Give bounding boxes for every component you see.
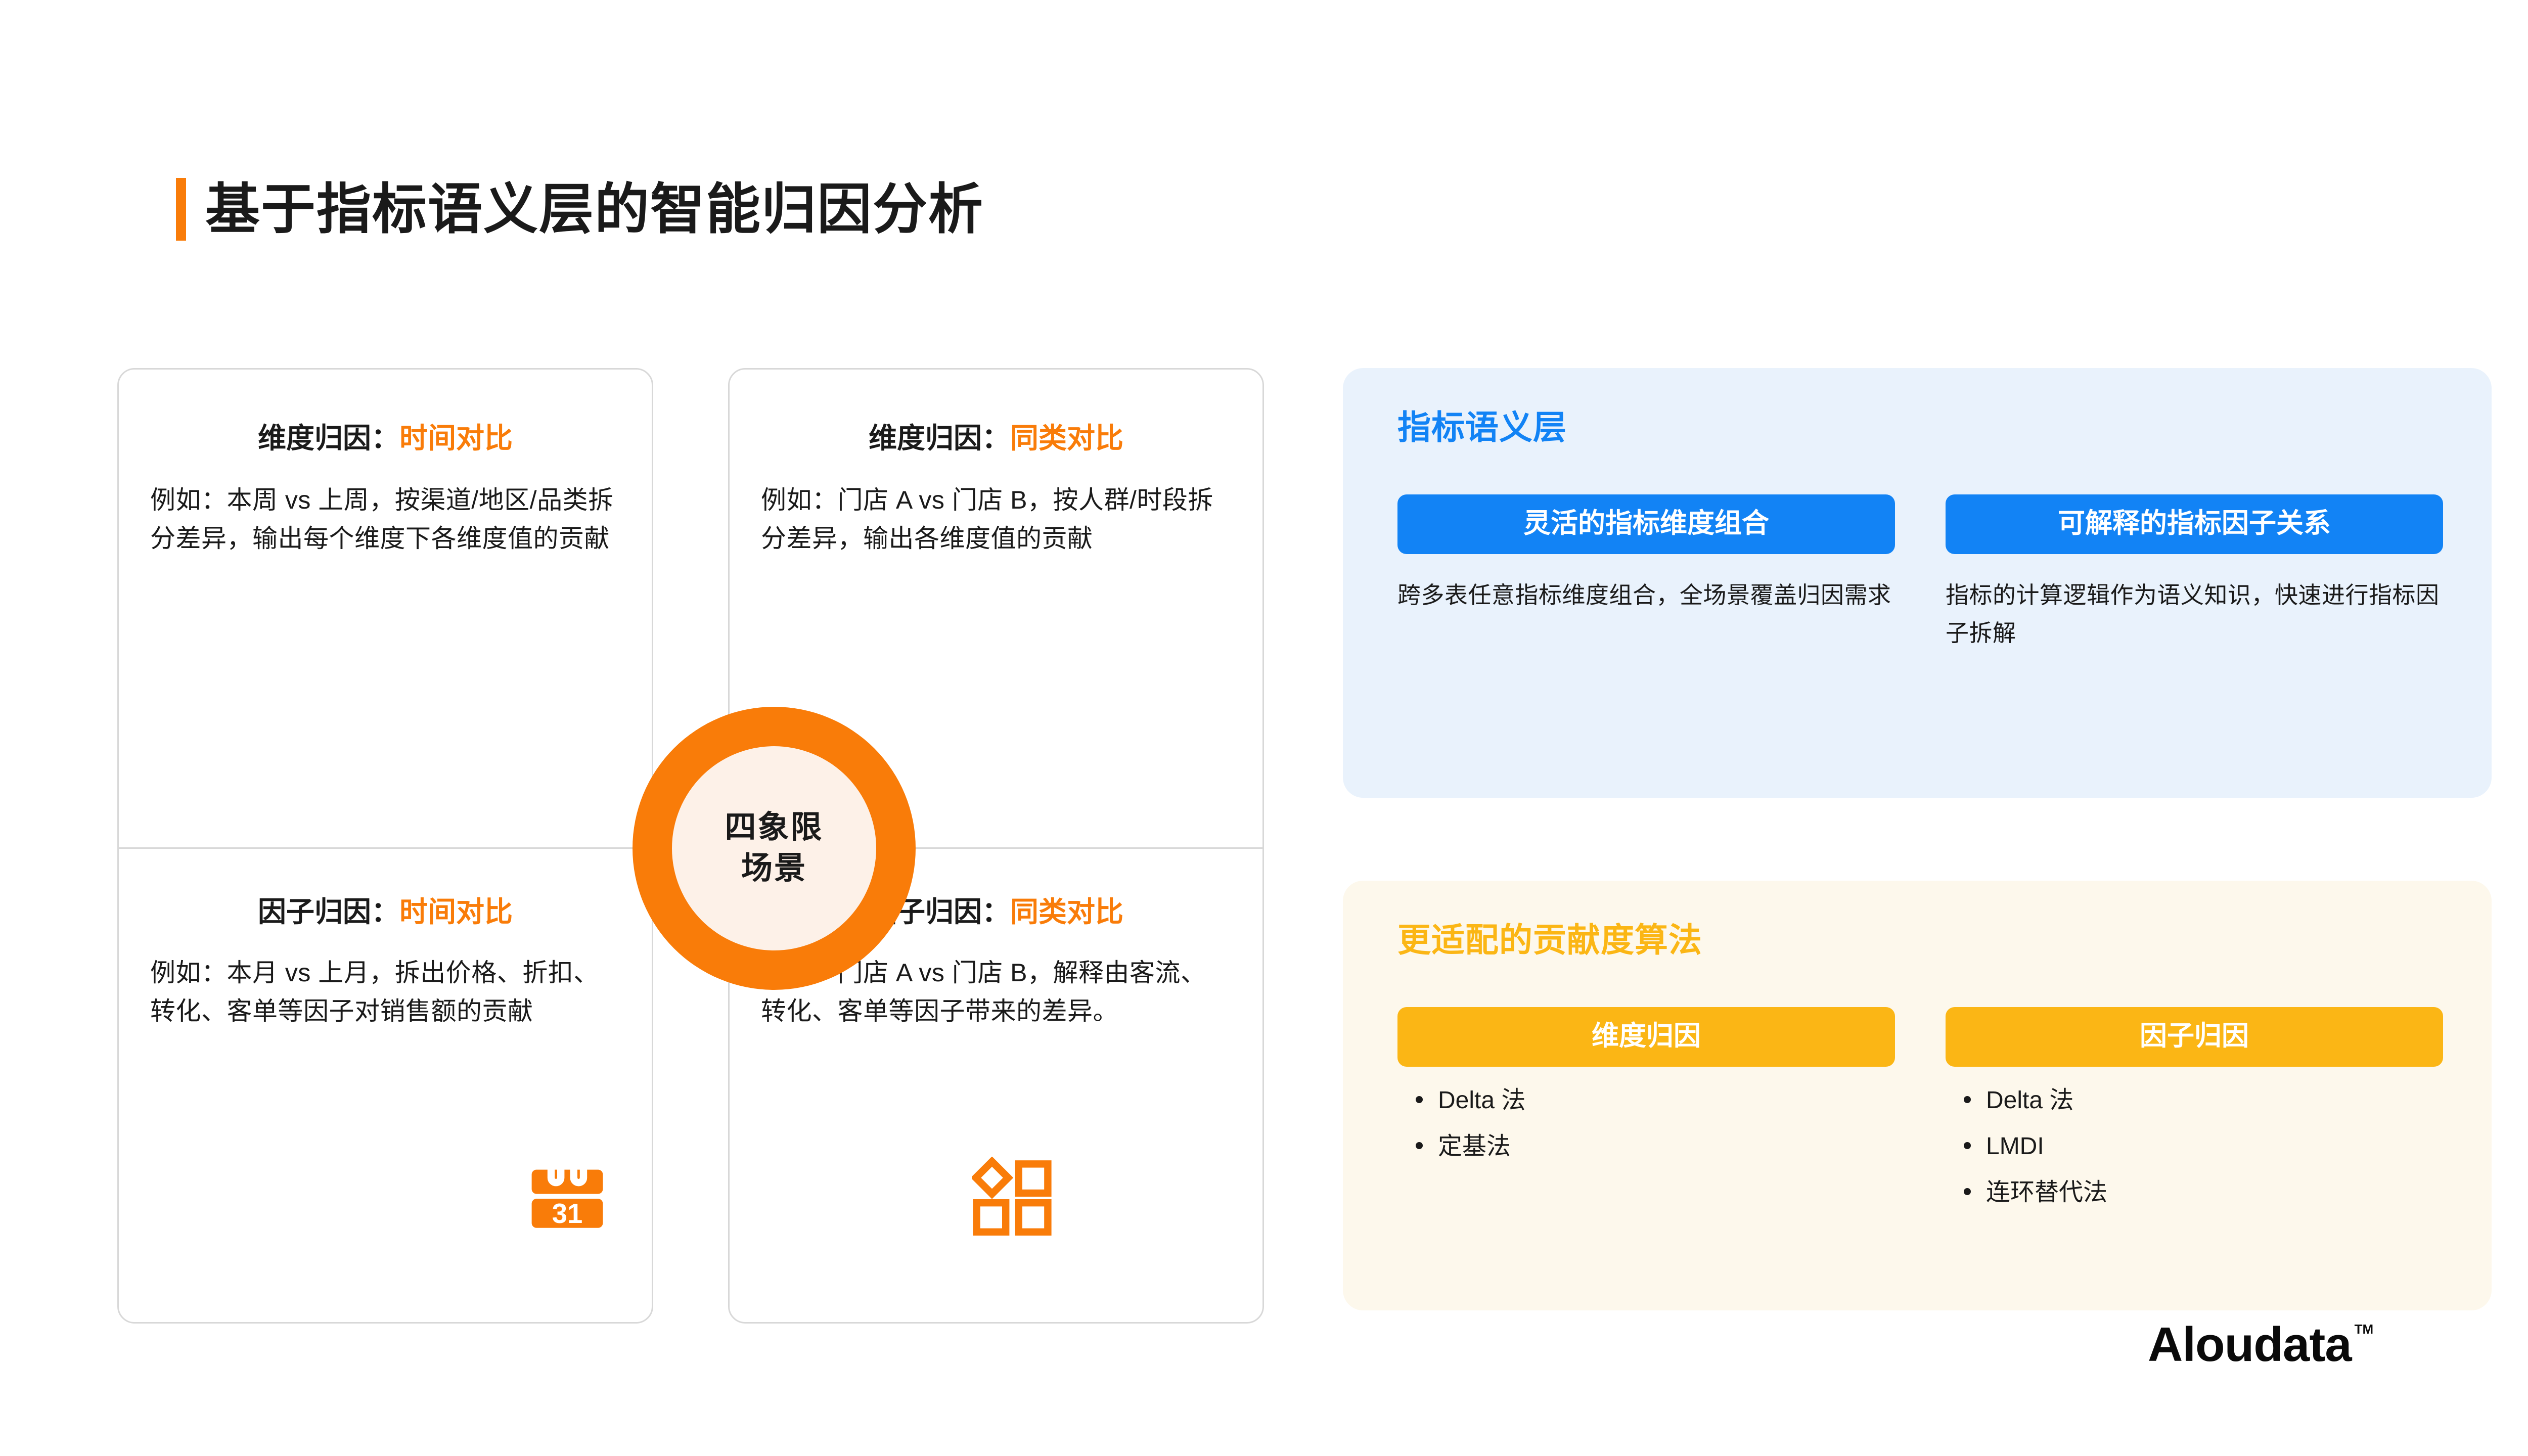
quadrant-heading-highlight: 同类对比 <box>1010 422 1123 454</box>
quadrant-body: 例如：本周 vs 上周，按渠道/地区/品类拆分差异，输出每个维度下各维度值的贡献 <box>150 452 620 558</box>
bullet-icon <box>1964 1142 1971 1149</box>
algorithm-column-dimension: 维度归因 Delta 法 定基法 <box>1397 1007 1895 1226</box>
algorithm-panel: 更适配的贡献度算法 维度归因 Delta 法 定基法 因子归因 Delta 法 … <box>1343 881 2492 1310</box>
quadrant-cell-dimension-time[interactable]: 维度归因：时间对比 例如：本周 vs 上周，按渠道/地区/品类拆分差异，输出每个… <box>119 370 652 847</box>
quadrant-cell-factor-time[interactable]: 因子归因：时间对比 例如：本月 vs 上月，拆出价格、折扣、转化、客单等因子对销… <box>119 847 652 1325</box>
quadrant-heading-prefix: 维度归因： <box>258 422 399 454</box>
quadrant-heading-highlight: 时间对比 <box>399 896 513 928</box>
center-ring-inner: 四象限 场景 <box>672 746 876 950</box>
quadrant-heading: 因子归因：时间对比 <box>150 847 620 926</box>
list-item-label: Delta 法 <box>1438 1088 1525 1114</box>
semantic-desc-flexible: 跨多表任意指标维度组合，全场景覆盖归因需求 <box>1397 576 1895 614</box>
page-title: 基于指标语义层的智能归因分析 <box>205 182 984 237</box>
logo-wordmark: Aloudata <box>2148 1321 2352 1369</box>
list-item-label: 连环替代法 <box>1986 1180 2107 1206</box>
quadrant-heading-highlight: 时间对比 <box>399 422 513 454</box>
page-header: 基于指标语义层的智能归因分析 <box>176 178 984 241</box>
semantic-pill-explainable[interactable]: 可解释的指标因子关系 <box>1946 494 2443 554</box>
semantic-column-explainable: 可解释的指标因子关系 指标的计算逻辑作为语义知识，快速进行指标因子拆解 <box>1946 494 2443 652</box>
algorithm-pill-factor[interactable]: 因子归因 <box>1946 1007 2443 1067</box>
algorithm-pill-dimension[interactable]: 维度归因 <box>1397 1007 1895 1067</box>
list-item: LMDI <box>1946 1134 2443 1160</box>
semantic-layer-title: 指标语义层 <box>1397 411 1567 444</box>
quadrant-heading: 维度归因：同类对比 <box>761 370 1231 452</box>
trademark-icon: TM <box>2355 1323 2374 1336</box>
quadrant-heading: 维度归因：时间对比 <box>150 370 620 452</box>
list-item-label: LMDI <box>1986 1134 2044 1160</box>
quadrant-heading-highlight: 同类对比 <box>1010 896 1123 928</box>
bullet-icon <box>1416 1142 1423 1149</box>
algorithm-list-dimension: Delta 法 定基法 <box>1397 1088 1895 1160</box>
semantic-layer-panel: 指标语义层 灵活的指标维度组合 跨多表任意指标维度组合，全场景覆盖归因需求 可解… <box>1343 368 2492 798</box>
center-ring: 四象限 场景 <box>633 707 916 990</box>
algorithm-list-factor: Delta 法 LMDI 连环替代法 <box>1946 1088 2443 1206</box>
semantic-desc-explainable: 指标的计算逻辑作为语义知识，快速进行指标因子拆解 <box>1946 576 2443 652</box>
algorithm-columns: 维度归因 Delta 法 定基法 因子归因 Delta 法 LMDI 连环替代法 <box>1397 1007 2443 1226</box>
center-label-line1: 四象限 <box>725 807 823 848</box>
algorithm-panel-title: 更适配的贡献度算法 <box>1397 923 1702 957</box>
list-item-label: Delta 法 <box>1986 1088 2073 1114</box>
svg-text:31: 31 <box>552 1198 583 1229</box>
algorithm-column-factor: 因子归因 Delta 法 LMDI 连环替代法 <box>1946 1007 2443 1226</box>
semantic-layer-columns: 灵活的指标维度组合 跨多表任意指标维度组合，全场景覆盖归因需求 可解释的指标因子… <box>1397 494 2443 652</box>
list-item: Delta 法 <box>1946 1088 2443 1114</box>
quadrant-diagram: 维度归因：时间对比 例如：本周 vs 上周，按渠道/地区/品类拆分差异，输出每个… <box>117 368 1264 1324</box>
list-item-label: 定基法 <box>1438 1134 1511 1160</box>
bullet-icon <box>1964 1096 1971 1103</box>
quadrant-heading-prefix: 维度归因： <box>869 422 1010 454</box>
center-label-line2: 场景 <box>725 848 823 889</box>
calendar-31-icon: 31 <box>527 1157 608 1238</box>
semantic-pill-flexible[interactable]: 灵活的指标维度组合 <box>1397 494 1895 554</box>
semantic-column-flexible: 灵活的指标维度组合 跨多表任意指标维度组合，全场景覆盖归因需求 <box>1397 494 1895 652</box>
list-item: 连环替代法 <box>1946 1180 2443 1206</box>
title-accent-bar <box>176 178 186 241</box>
list-item: Delta 法 <box>1397 1088 1895 1114</box>
quadrant-body: 例如：门店 A vs 门店 B，按人群/时段拆分差异，输出各维度值的贡献 <box>761 452 1231 558</box>
list-item: 定基法 <box>1397 1134 1895 1160</box>
grid-shapes-icon <box>972 1157 1053 1238</box>
center-label: 四象限 场景 <box>725 807 823 889</box>
bullet-icon <box>1416 1096 1423 1103</box>
quadrant-body: 例如：本月 vs 上月，拆出价格、折扣、转化、客单等因子对销售额的贡献 <box>150 926 620 1030</box>
aloudata-logo: Aloudata TM <box>2148 1321 2373 1369</box>
quadrant-heading-prefix: 因子归因： <box>258 896 399 928</box>
bullet-icon <box>1964 1188 1971 1195</box>
